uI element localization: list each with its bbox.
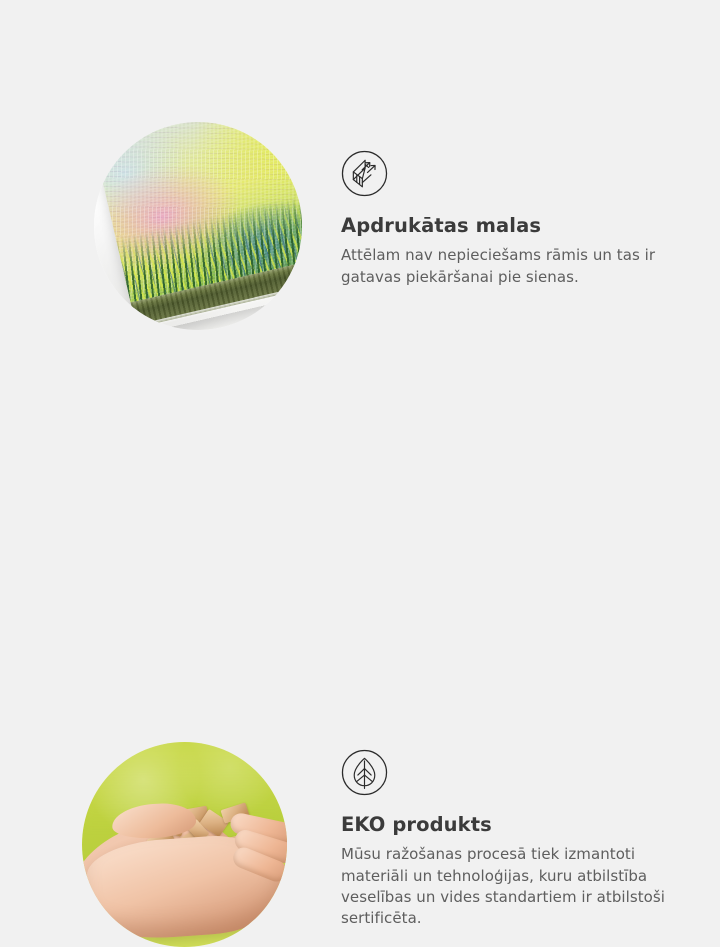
feature-block-eko-product: EKO produkts Mūsu ražošanas procesā tiek… [0, 360, 720, 720]
hands-holding-wood-chips-photo [82, 742, 287, 947]
canvas-print-corner-photo [94, 122, 302, 330]
feature-content-printed-edges: Apdrukātas malas Attēlam nav nepieciešam… [341, 150, 689, 288]
feature-block-printed-edges: Apdrukātas malas Attēlam nav nepieciešam… [0, 0, 720, 360]
canvas-board [94, 122, 302, 330]
printed-edges-icon [341, 150, 388, 197]
feature-content-eko-product: EKO produkts Mūsu ražošanas procesā tiek… [341, 749, 689, 930]
canvas-photo-background [94, 122, 302, 330]
feature-description-eko-product: Mūsu ražošanas procesā tiek izmantoti ma… [341, 844, 681, 929]
feature-title-eko-product: EKO produkts [341, 813, 689, 836]
product-features-page: Apdrukātas malas Attēlam nav nepieciešam… [0, 0, 720, 720]
leaf-icon [341, 749, 388, 796]
feature-title-printed-edges: Apdrukātas malas [341, 214, 689, 237]
feature-description-printed-edges: Attēlam nav nepieciešams rāmis un tas ir… [341, 245, 681, 288]
eco-photo-background [82, 742, 287, 947]
hand-fingers [200, 816, 287, 886]
